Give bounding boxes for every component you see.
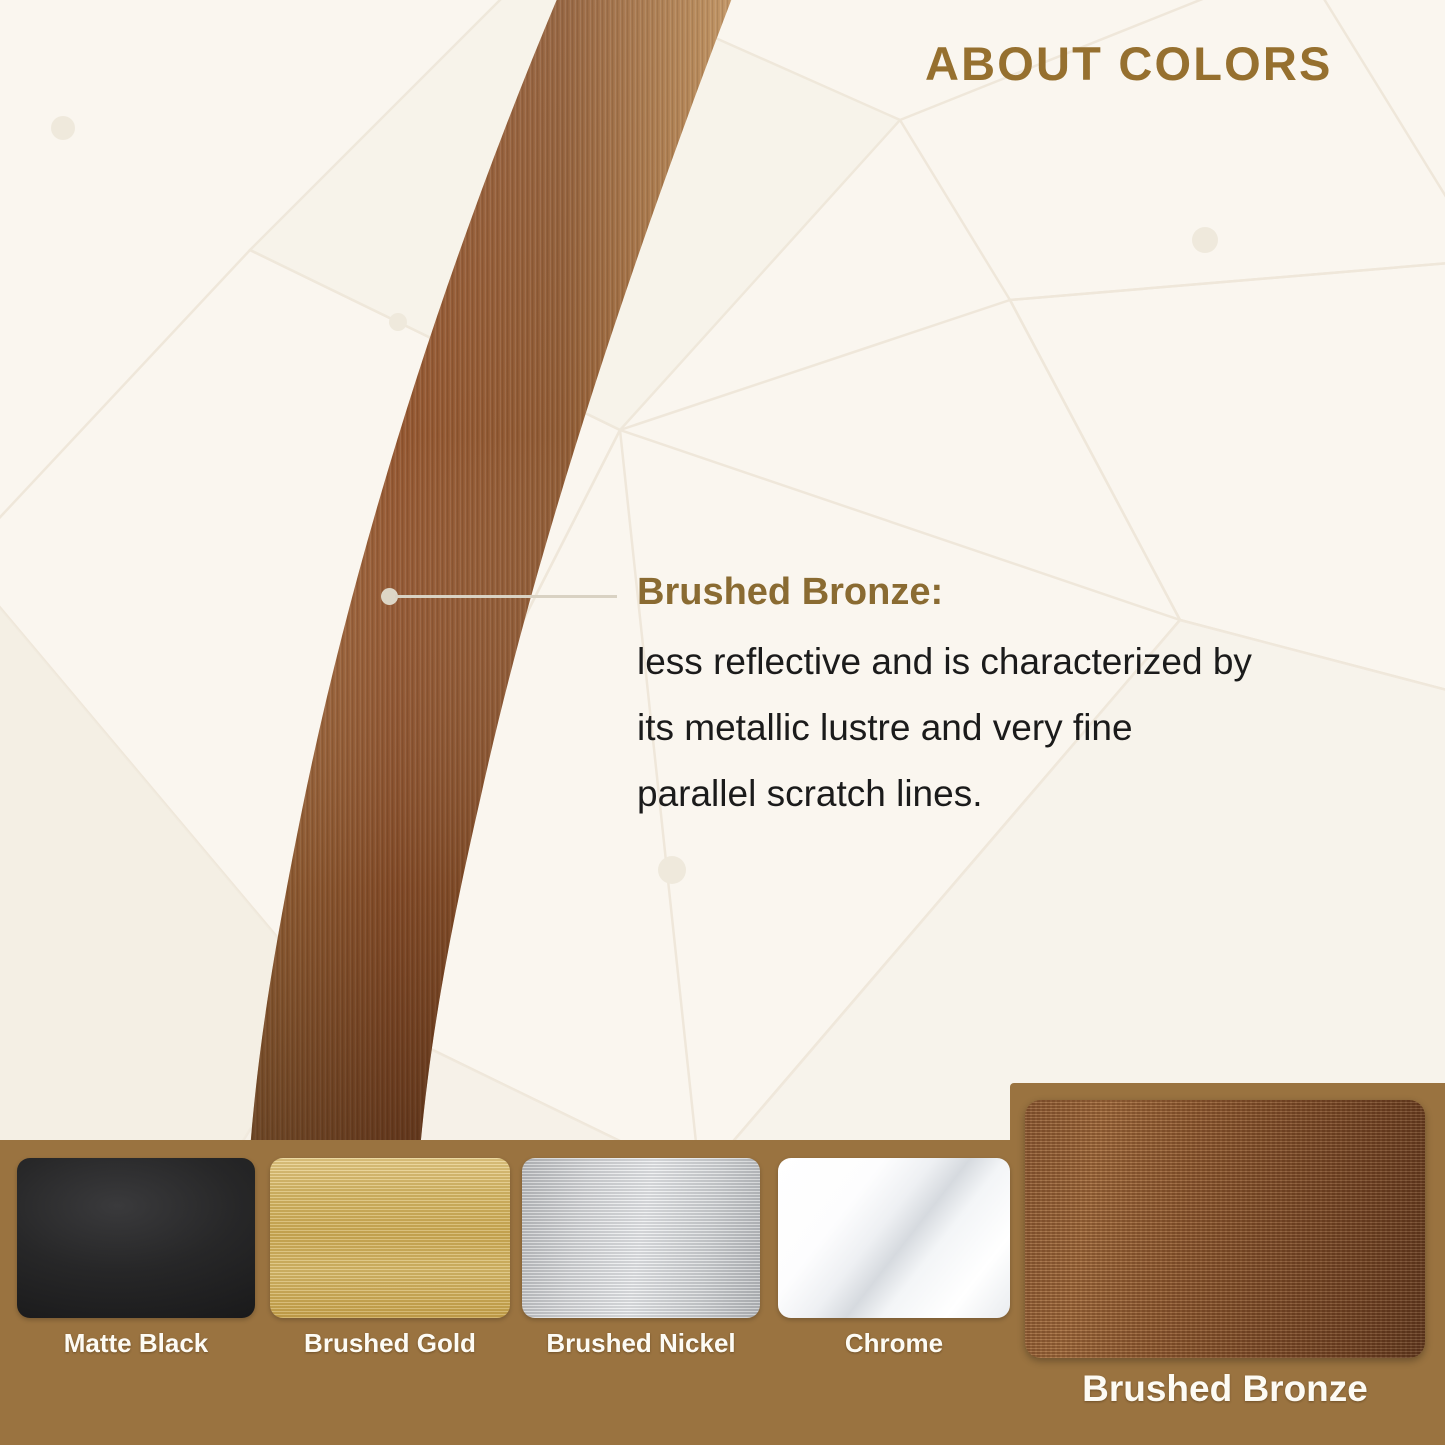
swatch-brushed-gold[interactable] (270, 1158, 510, 1318)
swatch-brushed-bronze-featured[interactable] (1025, 1100, 1425, 1358)
callout-text-block: Brushed Bronze: less reflective and is c… (637, 570, 1397, 826)
swatch-label-brushed-bronze: Brushed Bronze (1025, 1368, 1425, 1410)
swatch-label-chrome: Chrome (778, 1328, 1010, 1359)
callout-body: less reflective and is characterized by … (637, 629, 1397, 827)
swatch-brushed-nickel[interactable] (522, 1158, 760, 1318)
callout-body-line-1: less reflective and is characterized by (637, 629, 1397, 695)
swatch-matte-black[interactable] (17, 1158, 255, 1318)
callout-leader-line (395, 595, 617, 598)
infographic-canvas: ABOUT COLORS Brushed Bronze: less reflec… (0, 0, 1445, 1445)
page-title: ABOUT COLORS (925, 36, 1333, 91)
swatch-label-brushed-gold: Brushed Gold (270, 1328, 510, 1359)
callout-body-line-2: its metallic lustre and very fine (637, 695, 1397, 761)
swatch-chrome[interactable] (778, 1158, 1010, 1318)
callout-heading: Brushed Bronze: (637, 570, 1397, 615)
swatch-label-matte-black: Matte Black (17, 1328, 255, 1359)
swatch-label-brushed-nickel: Brushed Nickel (522, 1328, 760, 1359)
callout-body-line-3: parallel scratch lines. (637, 761, 1397, 827)
